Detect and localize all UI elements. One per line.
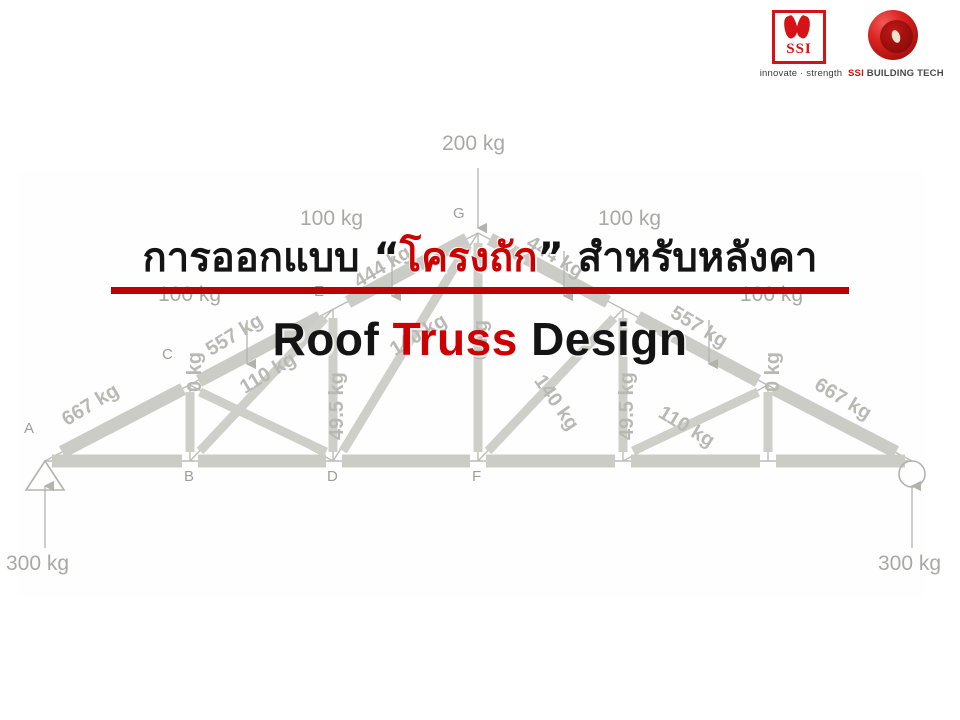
force-label-right-vertical-zero: 0 kg bbox=[762, 352, 785, 392]
force-label-bc-vertical: 0 kg bbox=[184, 352, 207, 392]
reaction-arrows bbox=[45, 486, 912, 548]
force-label-right-vertical-495: 49.5 kg bbox=[616, 372, 639, 440]
node-label-a: A bbox=[24, 420, 34, 437]
node-label-c: C bbox=[162, 346, 173, 363]
load-label-lower-right: 100 kg bbox=[740, 283, 803, 307]
node-label-f: F bbox=[472, 468, 481, 485]
force-label-fg-vertical: 0 kg bbox=[470, 320, 493, 360]
node-label-d: D bbox=[327, 468, 338, 485]
load-label-lower-left: 100 kg bbox=[158, 283, 221, 307]
reaction-label-left: 300 kg bbox=[6, 552, 69, 576]
load-label-upper-right: 100 kg bbox=[598, 207, 661, 231]
node-label-g: G bbox=[453, 205, 465, 222]
node-label-e: E bbox=[314, 283, 324, 300]
truss-diagram bbox=[0, 0, 960, 720]
node-label-b: B bbox=[184, 468, 194, 485]
reaction-label-right: 300 kg bbox=[878, 552, 941, 576]
load-label-upper-left: 100 kg bbox=[300, 207, 363, 231]
load-label-apex: 200 kg bbox=[442, 132, 505, 156]
roller-support bbox=[899, 461, 925, 487]
force-label-de-vertical: 49.5 kg bbox=[326, 372, 349, 440]
slide-canvas: SSI innovate · strength SSI BUILDING TEC… bbox=[0, 0, 960, 720]
